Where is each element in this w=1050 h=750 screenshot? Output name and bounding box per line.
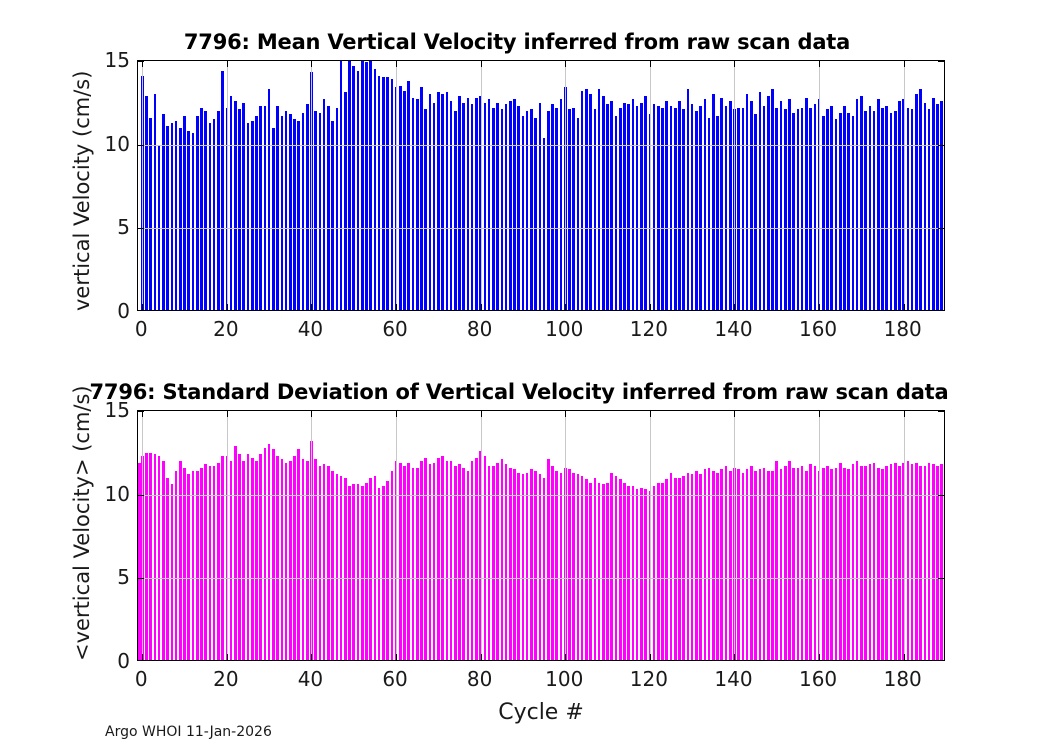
bar bbox=[940, 101, 943, 310]
bar bbox=[369, 478, 372, 660]
bar bbox=[171, 484, 174, 660]
x-tick-mark bbox=[311, 61, 312, 67]
bar bbox=[640, 488, 643, 660]
bar bbox=[619, 108, 622, 310]
bar bbox=[746, 469, 749, 660]
bar bbox=[293, 119, 296, 310]
bar bbox=[509, 468, 512, 660]
bar bbox=[471, 104, 474, 310]
bar bbox=[539, 103, 542, 310]
bar bbox=[166, 126, 169, 310]
bar bbox=[919, 89, 922, 310]
bar bbox=[759, 92, 762, 310]
bar bbox=[179, 128, 182, 310]
plot-area-mean bbox=[137, 60, 945, 311]
bar bbox=[712, 471, 715, 660]
bar bbox=[610, 101, 613, 310]
x-tick-mark bbox=[650, 411, 651, 417]
bar bbox=[446, 461, 449, 660]
y-axis-label-std: <vertical Velocity> (cm/s) bbox=[70, 385, 94, 661]
y-tick-label: 5 bbox=[117, 565, 130, 589]
gridline-vertical bbox=[311, 61, 312, 310]
x-tick-mark bbox=[311, 304, 312, 310]
bar bbox=[708, 468, 711, 660]
bar bbox=[594, 478, 597, 660]
bar bbox=[517, 106, 520, 310]
y-tick-label: 5 bbox=[117, 215, 130, 239]
x-tick-label: 40 bbox=[298, 317, 323, 341]
bar bbox=[187, 474, 190, 660]
gridline-vertical bbox=[904, 411, 905, 660]
bar bbox=[788, 461, 791, 660]
bar bbox=[835, 119, 838, 310]
bar bbox=[272, 449, 275, 660]
bar bbox=[771, 89, 774, 310]
bar bbox=[687, 89, 690, 310]
bar bbox=[196, 471, 199, 660]
bar bbox=[653, 486, 656, 660]
bar bbox=[183, 468, 186, 660]
bar bbox=[204, 111, 207, 310]
bar bbox=[530, 109, 533, 310]
bar bbox=[501, 459, 504, 660]
bar bbox=[894, 463, 897, 660]
bar bbox=[513, 469, 516, 660]
bar bbox=[522, 474, 525, 660]
bar bbox=[678, 101, 681, 310]
bar bbox=[665, 101, 668, 310]
bar bbox=[204, 464, 207, 660]
bar bbox=[873, 111, 876, 310]
bar bbox=[471, 461, 474, 660]
footer-attribution: Argo WHOI 11-Jan-2026 bbox=[105, 724, 272, 740]
bar bbox=[230, 96, 233, 310]
bar bbox=[585, 89, 588, 310]
bar bbox=[264, 448, 267, 661]
gridline-vertical bbox=[142, 411, 143, 660]
bar bbox=[657, 106, 660, 310]
y-tick-mark bbox=[138, 578, 144, 579]
gridline-horizontal bbox=[138, 495, 944, 496]
bar bbox=[378, 76, 381, 310]
bar bbox=[737, 108, 740, 310]
x-tick-label: 100 bbox=[545, 317, 583, 341]
x-tick-mark bbox=[396, 61, 397, 67]
bar bbox=[517, 473, 520, 660]
x-tick-mark bbox=[227, 411, 228, 417]
bar bbox=[429, 94, 432, 310]
bar bbox=[780, 101, 783, 310]
bar bbox=[247, 454, 250, 660]
bar bbox=[306, 104, 309, 310]
bar bbox=[767, 471, 770, 660]
bar bbox=[915, 463, 918, 660]
bar bbox=[314, 111, 317, 310]
bar bbox=[560, 473, 563, 660]
bar bbox=[856, 461, 859, 660]
x-tick-label: 20 bbox=[213, 667, 238, 691]
bar bbox=[145, 96, 148, 310]
bar bbox=[416, 99, 419, 310]
bar bbox=[555, 108, 558, 310]
bar bbox=[420, 87, 423, 310]
bar bbox=[352, 66, 355, 310]
bar bbox=[750, 101, 753, 310]
bar bbox=[610, 473, 613, 660]
x-tick-mark bbox=[142, 304, 143, 310]
bar bbox=[289, 114, 292, 310]
bar bbox=[361, 60, 364, 310]
bar bbox=[847, 113, 850, 310]
bar bbox=[505, 104, 508, 310]
x-tick-mark bbox=[650, 654, 651, 660]
bar bbox=[534, 118, 537, 310]
bar bbox=[928, 109, 931, 310]
bar bbox=[602, 484, 605, 660]
y-tick-labels-mean: 051015 bbox=[96, 60, 130, 311]
bar bbox=[830, 106, 833, 310]
bar bbox=[670, 473, 673, 660]
y-tick-label: 10 bbox=[105, 132, 130, 156]
bar bbox=[754, 471, 757, 660]
bar bbox=[268, 89, 271, 310]
bar bbox=[543, 478, 546, 660]
bar bbox=[513, 99, 516, 310]
x-tick-mark bbox=[819, 411, 820, 417]
bar bbox=[771, 471, 774, 660]
bar bbox=[437, 458, 440, 660]
bar bbox=[221, 456, 224, 660]
x-tick-mark bbox=[819, 654, 820, 660]
x-tick-mark bbox=[819, 304, 820, 310]
bar bbox=[327, 106, 330, 310]
bar bbox=[678, 478, 681, 660]
bar bbox=[577, 118, 580, 310]
bar bbox=[577, 474, 580, 660]
bar bbox=[682, 109, 685, 310]
bar bbox=[822, 468, 825, 660]
bar bbox=[365, 483, 368, 660]
x-tick-mark bbox=[311, 654, 312, 660]
gridline-vertical bbox=[227, 61, 228, 310]
gridline-vertical bbox=[565, 61, 566, 310]
bar bbox=[890, 464, 893, 660]
bar bbox=[775, 108, 778, 310]
bar bbox=[911, 464, 914, 660]
bar-series-std bbox=[138, 411, 944, 660]
bar bbox=[729, 101, 732, 310]
gridline-vertical bbox=[311, 411, 312, 660]
bar bbox=[412, 98, 415, 311]
bar bbox=[885, 106, 888, 310]
bar bbox=[272, 128, 275, 310]
bar bbox=[297, 449, 300, 660]
bar bbox=[285, 111, 288, 310]
bar bbox=[864, 111, 867, 310]
bar bbox=[594, 109, 597, 310]
x-tick-mark bbox=[481, 304, 482, 310]
bar bbox=[336, 474, 339, 660]
y-tick-mark bbox=[138, 61, 144, 62]
bar bbox=[357, 484, 360, 660]
x-tick-mark bbox=[396, 411, 397, 417]
bar bbox=[797, 468, 800, 660]
bar bbox=[551, 104, 554, 310]
bar bbox=[670, 106, 673, 310]
y-tick-mark bbox=[938, 228, 944, 229]
bar bbox=[391, 79, 394, 310]
bar bbox=[852, 464, 855, 660]
x-tick-mark bbox=[565, 304, 566, 310]
bar bbox=[251, 458, 254, 660]
bar bbox=[475, 98, 478, 311]
bar bbox=[704, 99, 707, 310]
bar bbox=[539, 474, 542, 660]
bar bbox=[788, 99, 791, 310]
bar bbox=[936, 104, 939, 310]
bar bbox=[484, 456, 487, 660]
bar bbox=[623, 103, 626, 310]
bar bbox=[869, 464, 872, 660]
bar bbox=[644, 489, 647, 660]
bar bbox=[877, 468, 880, 660]
bar bbox=[657, 483, 660, 660]
bar bbox=[369, 60, 372, 310]
bar bbox=[699, 106, 702, 310]
bar bbox=[458, 464, 461, 660]
bar bbox=[424, 458, 427, 660]
x-tick-mark bbox=[734, 304, 735, 310]
bar bbox=[331, 121, 334, 310]
plot-area-std bbox=[137, 410, 945, 661]
bar bbox=[492, 108, 495, 310]
x-tick-label: 80 bbox=[467, 317, 492, 341]
bar bbox=[276, 456, 279, 660]
bar bbox=[754, 114, 757, 310]
y-tick-label: 0 bbox=[117, 299, 130, 323]
bar bbox=[780, 469, 783, 660]
x-tick-label: 80 bbox=[467, 667, 492, 691]
x-tick-mark bbox=[734, 411, 735, 417]
bar bbox=[940, 464, 943, 660]
bar bbox=[238, 454, 241, 660]
x-tick-label: 0 bbox=[135, 667, 148, 691]
bar bbox=[830, 469, 833, 660]
bar bbox=[775, 461, 778, 660]
bar bbox=[932, 98, 935, 311]
bar bbox=[606, 483, 609, 660]
x-tick-mark bbox=[904, 304, 905, 310]
bar bbox=[797, 109, 800, 310]
gridline-vertical bbox=[481, 411, 482, 660]
bar bbox=[441, 456, 444, 660]
bar bbox=[496, 463, 499, 660]
bar bbox=[915, 94, 918, 310]
bar bbox=[230, 461, 233, 660]
bar bbox=[572, 473, 575, 660]
bar bbox=[331, 471, 334, 660]
bar bbox=[285, 463, 288, 660]
bar bbox=[674, 478, 677, 660]
gridline-vertical bbox=[396, 411, 397, 660]
bar bbox=[746, 94, 749, 310]
bar bbox=[462, 468, 465, 660]
bar bbox=[674, 108, 677, 310]
bar bbox=[826, 109, 829, 310]
figure-canvas: 7796: Mean Vertical Velocity inferred fr… bbox=[0, 0, 1050, 750]
y-tick-mark bbox=[138, 411, 144, 412]
bar bbox=[856, 99, 859, 310]
bar bbox=[534, 471, 537, 660]
bar bbox=[598, 89, 601, 310]
bar bbox=[547, 459, 550, 660]
bar bbox=[382, 486, 385, 660]
bar bbox=[352, 484, 355, 660]
bar bbox=[881, 469, 884, 660]
bar bbox=[501, 109, 504, 310]
bar bbox=[374, 69, 377, 310]
bar bbox=[801, 108, 804, 310]
bar bbox=[847, 469, 850, 660]
bar bbox=[374, 476, 377, 660]
bar bbox=[623, 483, 626, 660]
bar bbox=[932, 464, 935, 660]
bar bbox=[391, 471, 394, 660]
bar bbox=[251, 121, 254, 310]
bar bbox=[809, 108, 812, 310]
bar bbox=[640, 103, 643, 310]
bar bbox=[704, 469, 707, 660]
bar bbox=[598, 483, 601, 660]
bar bbox=[314, 459, 317, 660]
gridline-horizontal bbox=[138, 228, 944, 229]
x-tick-label: 60 bbox=[382, 317, 407, 341]
bar bbox=[729, 471, 732, 660]
bar bbox=[162, 461, 165, 660]
bar bbox=[894, 111, 897, 310]
bar bbox=[627, 486, 630, 660]
y-tick-labels-std: 051015 bbox=[96, 410, 130, 661]
bar bbox=[293, 456, 296, 660]
bar bbox=[437, 92, 440, 310]
gridline-vertical bbox=[734, 411, 735, 660]
bar bbox=[530, 469, 533, 660]
bar bbox=[691, 474, 694, 660]
bar bbox=[365, 62, 368, 310]
bar bbox=[898, 101, 901, 310]
bar bbox=[843, 468, 846, 660]
bar bbox=[924, 103, 927, 310]
gridline-vertical bbox=[904, 61, 905, 310]
bar bbox=[699, 474, 702, 660]
bar bbox=[187, 131, 190, 310]
gridline-vertical bbox=[565, 411, 566, 660]
gridline-horizontal bbox=[138, 578, 944, 579]
bar bbox=[708, 118, 711, 310]
bar bbox=[725, 106, 728, 310]
bar bbox=[881, 108, 884, 310]
bar bbox=[175, 121, 178, 310]
gridline-vertical bbox=[481, 61, 482, 310]
bar bbox=[234, 101, 237, 310]
bar bbox=[323, 99, 326, 310]
bar bbox=[682, 476, 685, 660]
x-axis-label: Cycle # bbox=[137, 700, 945, 725]
bar bbox=[192, 471, 195, 660]
gridline-vertical bbox=[819, 61, 820, 310]
bar bbox=[581, 476, 584, 660]
bar bbox=[336, 108, 339, 310]
bar bbox=[784, 109, 787, 310]
bar bbox=[759, 469, 762, 660]
chart-title-mean: 7796: Mean Vertical Velocity inferred fr… bbox=[0, 30, 1042, 54]
bar bbox=[839, 113, 842, 310]
bar bbox=[907, 108, 910, 310]
bar bbox=[860, 96, 863, 310]
bar bbox=[302, 459, 305, 660]
x-tick-mark bbox=[904, 654, 905, 660]
x-tick-label: 120 bbox=[630, 667, 668, 691]
bar bbox=[653, 104, 656, 310]
bar bbox=[166, 478, 169, 660]
bar bbox=[302, 113, 305, 310]
x-tick-label: 140 bbox=[714, 667, 752, 691]
x-tick-mark bbox=[650, 61, 651, 67]
bar bbox=[344, 92, 347, 310]
bar bbox=[399, 86, 402, 310]
bar bbox=[441, 94, 444, 310]
bar bbox=[213, 119, 216, 310]
bar bbox=[344, 478, 347, 660]
y-tick-mark bbox=[938, 145, 944, 146]
x-tick-label: 160 bbox=[799, 317, 837, 341]
bar bbox=[416, 468, 419, 660]
x-tick-mark bbox=[565, 411, 566, 417]
bar bbox=[488, 99, 491, 310]
bar bbox=[835, 468, 838, 660]
y-tick-mark bbox=[938, 61, 944, 62]
bar bbox=[378, 488, 381, 660]
x-tick-label: 0 bbox=[135, 317, 148, 341]
bar bbox=[403, 91, 406, 310]
bar bbox=[340, 476, 343, 660]
bar bbox=[695, 471, 698, 660]
x-tick-mark bbox=[819, 61, 820, 67]
x-tick-mark bbox=[904, 411, 905, 417]
bar bbox=[767, 96, 770, 310]
bar bbox=[805, 471, 808, 660]
bar bbox=[255, 461, 258, 660]
bar bbox=[450, 101, 453, 310]
bar bbox=[348, 61, 351, 310]
bar bbox=[509, 101, 512, 310]
gridline-vertical bbox=[650, 61, 651, 310]
x-tick-mark bbox=[481, 654, 482, 660]
bar bbox=[661, 108, 664, 310]
x-tick-label: 20 bbox=[213, 317, 238, 341]
bar bbox=[742, 473, 745, 660]
y-tick-mark bbox=[138, 145, 144, 146]
x-tick-mark bbox=[227, 304, 228, 310]
bar bbox=[386, 77, 389, 310]
bar bbox=[289, 461, 292, 660]
bar bbox=[632, 99, 635, 310]
bar bbox=[357, 71, 360, 310]
bar bbox=[424, 109, 427, 310]
bar bbox=[665, 479, 668, 660]
bar bbox=[234, 446, 237, 660]
bar bbox=[386, 481, 389, 660]
